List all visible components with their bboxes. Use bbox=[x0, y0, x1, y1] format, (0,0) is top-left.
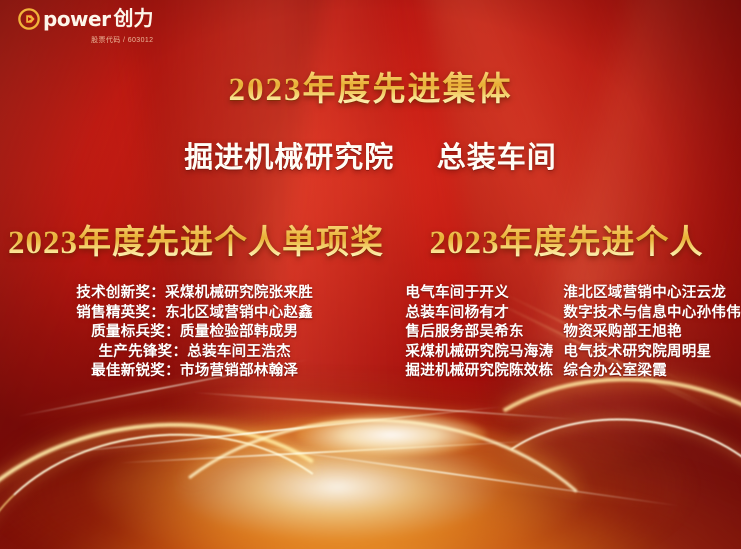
individual-name: 数字技术与信息中心孙伟伟 bbox=[563, 304, 741, 324]
list-item: 生产先锋奖：总装车间王浩杰 bbox=[0, 343, 389, 363]
individual-name: 电气车间于开义 bbox=[405, 284, 563, 304]
individual-name: 电气技术研究院周明星 bbox=[563, 343, 711, 363]
special-award-title: 2023年度先进个人单项奖 bbox=[0, 215, 392, 263]
list-item: 电气车间于开义 淮北区域营销中心汪云龙 bbox=[389, 284, 741, 304]
collective-title: 2023年度先进集体 bbox=[0, 62, 741, 110]
list-item: 质量标兵奖：质量检验部韩成男 bbox=[0, 323, 389, 343]
list-item: 售后服务部吴希东 物资采购部王旭艳 bbox=[389, 323, 741, 343]
individual-name: 售后服务部吴希东 bbox=[405, 323, 563, 343]
list-item: 采煤机械研究院马海涛 电气技术研究院周明星 bbox=[389, 343, 741, 363]
individual-name: 物资采购部王旭艳 bbox=[563, 323, 681, 343]
list-item: 总装车间杨有才 数字技术与信息中心孙伟伟 bbox=[389, 304, 741, 324]
individual-award-title: 2023年度先进个人 bbox=[392, 215, 741, 263]
list-item: 最佳新锐奖：市场营销部林翰泽 bbox=[0, 362, 389, 382]
award-lists: 技术创新奖：采煤机械研究院张来胜 销售精英奖：东北区域营销中心赵鑫 质量标兵奖：… bbox=[0, 284, 741, 382]
individual-name: 综合办公室梁霞 bbox=[563, 362, 667, 382]
individual-headings: 2023年度先进个人单项奖 2023年度先进个人 bbox=[0, 215, 741, 263]
individual-name: 总装车间杨有才 bbox=[405, 304, 563, 324]
list-item: 掘进机械研究院陈效栋 综合办公室梁霞 bbox=[389, 362, 741, 382]
collective-unit-2: 总装车间 bbox=[437, 142, 557, 174]
individual-name: 掘进机械研究院陈效栋 bbox=[405, 362, 563, 382]
company-logo: power 创力 股票代码 / 603012 bbox=[18, 8, 153, 45]
list-item: 技术创新奖：采煤机械研究院张来胜 bbox=[0, 284, 389, 304]
logo-row: power 创力 bbox=[18, 8, 153, 30]
special-awards-column: 技术创新奖：采煤机械研究院张来胜 销售精英奖：东北区域营销中心赵鑫 质量标兵奖：… bbox=[0, 284, 389, 382]
individual-name: 采煤机械研究院马海涛 bbox=[405, 343, 563, 363]
collective-units: 掘进机械研究院 总装车间 bbox=[0, 134, 741, 176]
stock-code-label: 股票代码 / 603012 bbox=[18, 35, 153, 45]
power-c-logo-icon bbox=[18, 8, 40, 30]
collective-unit-1: 掘进机械研究院 bbox=[184, 142, 394, 174]
logo-wordmark: power bbox=[43, 9, 110, 29]
logo-wordmark-cn: 创力 bbox=[113, 9, 153, 29]
list-item: 销售精英奖：东北区域营销中心赵鑫 bbox=[0, 304, 389, 324]
award-poster: power 创力 股票代码 / 603012 2023年度先进集体 掘进机械研究… bbox=[0, 0, 741, 549]
poster-content: 2023年度先进集体 掘进机械研究院 总装车间 2023年度先进个人单项奖 20… bbox=[0, 0, 741, 549]
individual-name: 淮北区域营销中心汪云龙 bbox=[563, 284, 726, 304]
individuals-column: 电气车间于开义 淮北区域营销中心汪云龙 总装车间杨有才 数字技术与信息中心孙伟伟… bbox=[389, 284, 741, 382]
